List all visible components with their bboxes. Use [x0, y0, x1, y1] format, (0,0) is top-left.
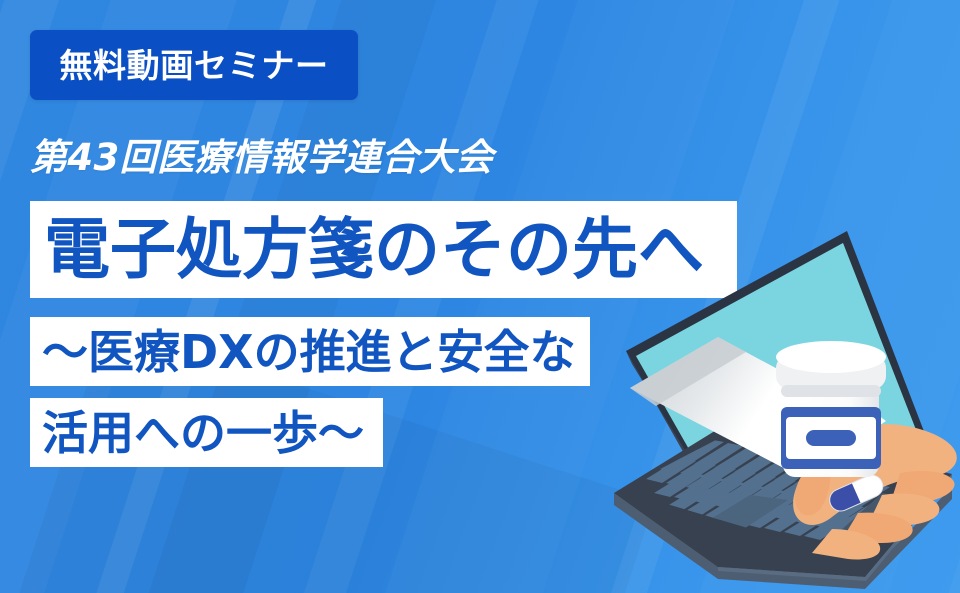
badge-label: 無料動画セミナー: [59, 49, 328, 82]
bottle-cap-top: [776, 341, 886, 373]
headline-line-3: 活用への一歩〜: [30, 398, 383, 467]
bottle-neck: [781, 385, 881, 397]
laptop-illustration: [600, 225, 960, 593]
event-name: 第43回医療情報学連合大会: [30, 138, 493, 179]
free-seminar-badge: 無料動画セミナー: [30, 30, 358, 100]
pill-bottle: [776, 341, 886, 477]
seminar-banner: 無料動画セミナー 第43回医療情報学連合大会 電子処方箋のその先へ 〜医療DXの…: [0, 0, 960, 593]
bottle-label-mark: [806, 430, 856, 446]
headline-line-2: 〜医療DXの推進と安全な: [30, 317, 590, 386]
